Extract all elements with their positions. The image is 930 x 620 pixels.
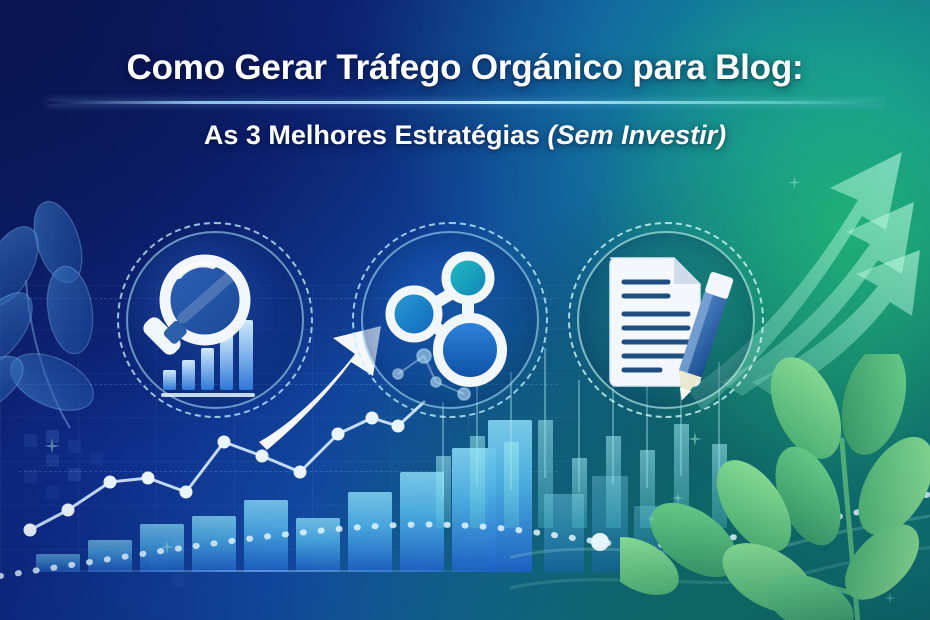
- document-pencil-icon: [568, 222, 764, 418]
- blog-header-banner: Como Gerar Tráfego Orgánico para Blog: A…: [0, 0, 930, 620]
- banner-header: Como Gerar Tráfego Orgánico para Blog: A…: [0, 48, 930, 151]
- page-subtitle: As 3 Melhores Estratégias (Sem Investir): [0, 120, 930, 151]
- network-share-nodes-icon: [352, 222, 548, 418]
- title-divider: [47, 101, 883, 104]
- icon-circle-social-share[interactable]: [352, 222, 548, 418]
- icon-circle-content-writing[interactable]: [568, 222, 764, 418]
- magnifier-bar-chart-icon: [117, 222, 313, 418]
- subtitle-main-text: As 3 Melhores Estratégias: [204, 120, 548, 150]
- icon-circle-row: [0, 222, 930, 422]
- subtitle-parenthetical-text: (Sem Investir): [548, 120, 727, 150]
- icon-circle-seo-research[interactable]: [117, 222, 313, 418]
- page-title: Como Gerar Tráfego Orgánico para Blog:: [0, 48, 930, 88]
